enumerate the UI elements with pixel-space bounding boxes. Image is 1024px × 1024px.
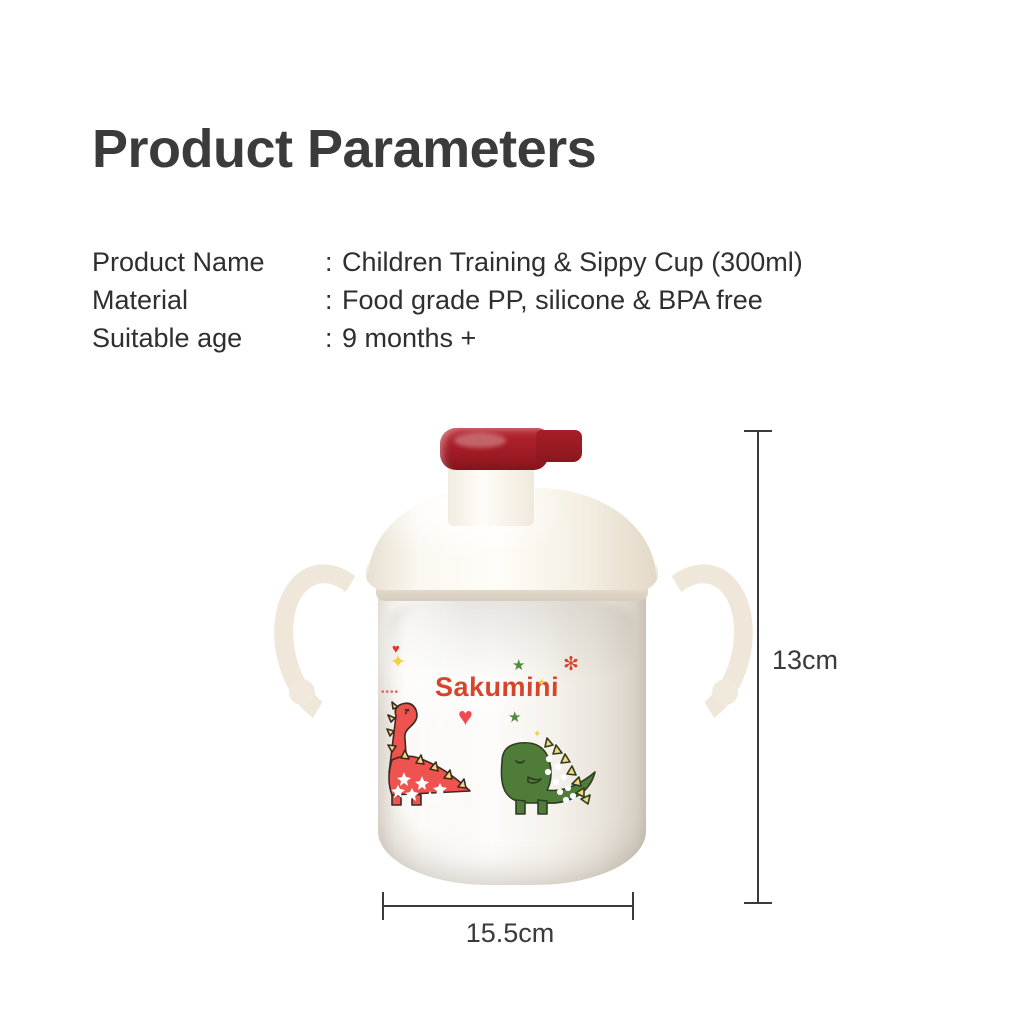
- dimension-line-height: [757, 430, 759, 904]
- spec-label-material: Material: [92, 281, 325, 319]
- product-spec-list: Product Name : Children Training & Sippy…: [92, 243, 803, 357]
- green-t-rex-dinosaur-graphic: [492, 732, 600, 820]
- spec-row-material: Material : Food grade PP, silicone & BPA…: [92, 281, 803, 319]
- spec-colon: :: [325, 243, 342, 281]
- dimension-tick-right: [632, 892, 634, 920]
- dimension-label-height: 13cm: [772, 645, 838, 676]
- spec-value-suitable-age: 9 months +: [342, 319, 476, 357]
- cup-spout-cap-highlight: [454, 433, 506, 448]
- spec-value-material: Food grade PP, silicone & BPA free: [342, 281, 763, 319]
- star-icon: ★: [508, 710, 521, 725]
- spec-colon: :: [325, 319, 342, 357]
- page-title: Product Parameters: [92, 118, 596, 180]
- sunburst-icon: ✻: [563, 655, 579, 674]
- spec-row-product-name: Product Name : Children Training & Sippy…: [92, 243, 803, 281]
- spec-label-suitable-age: Suitable age: [92, 319, 325, 357]
- dots-icon: ••••: [381, 688, 399, 698]
- star-icon: ★: [512, 658, 525, 673]
- red-long-neck-dinosaur-graphic: [374, 698, 494, 808]
- dimension-label-width: 15.5cm: [440, 918, 580, 949]
- spec-value-product-name: Children Training & Sippy Cup (300ml): [342, 243, 803, 281]
- sparkle-icon: ✦: [537, 678, 546, 689]
- product-image-sippy-cup: Sakumini ♥ ✦ •••• ★ ✦ ✻ ♥ ★ ✦: [250, 410, 770, 920]
- sparkle-icon: ✦: [390, 653, 406, 672]
- spec-label-product-name: Product Name: [92, 243, 325, 281]
- dimension-tick-top: [744, 430, 772, 432]
- dimension-tick-bottom: [744, 902, 772, 904]
- spec-row-suitable-age: Suitable age : 9 months +: [92, 319, 803, 357]
- cup-spout-cap-tab: [536, 430, 582, 462]
- spec-colon: :: [325, 281, 342, 319]
- dimension-tick-left: [382, 892, 384, 920]
- dimension-line-width: [382, 905, 634, 907]
